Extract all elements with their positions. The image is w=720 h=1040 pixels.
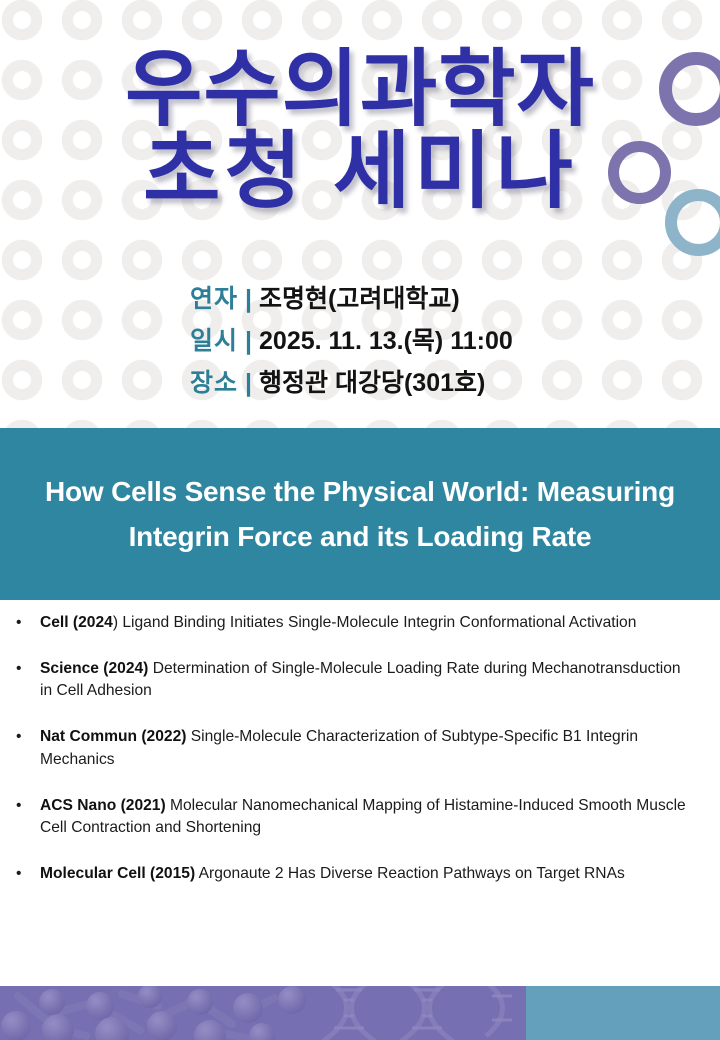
seminar-poster: 우수의과학자 초청 세미나 연자|조명현(고려대학교) 일시|2025. 11.… bbox=[0, 0, 720, 1040]
footer-teal-block bbox=[526, 986, 720, 1040]
lecture-title-banner: How Cells Sense the Physical World: Meas… bbox=[0, 428, 720, 600]
bullet-icon: • bbox=[16, 612, 21, 634]
publication-journal: Molecular Cell (2015) bbox=[40, 865, 195, 882]
list-item: •Science (2024) Determination of Single-… bbox=[14, 658, 686, 702]
info-label-datetime: 일시 bbox=[190, 327, 238, 355]
publication-title: Argonaute 2 Has Diverse Reaction Pathway… bbox=[195, 865, 625, 882]
info-separator-datetime: | bbox=[238, 327, 259, 355]
info-value-location: 행정관 대강당(301호) bbox=[259, 369, 485, 397]
poster-title-line-2: 초청 세미나 bbox=[0, 130, 720, 212]
lecture-title-text: How Cells Sense the Physical World: Meas… bbox=[20, 469, 700, 560]
info-row-datetime: 일시|2025. 11. 13.(목) 11:00 bbox=[190, 320, 530, 362]
list-item: •Molecular Cell (2015) Argonaute 2 Has D… bbox=[14, 863, 686, 885]
list-item: •Nat Commun (2022) Single-Molecule Chara… bbox=[14, 726, 686, 770]
bullet-icon: • bbox=[16, 726, 21, 748]
info-value-datetime: 2025. 11. 13.(목) 11:00 bbox=[259, 327, 513, 355]
footer-purple-tint bbox=[0, 986, 526, 1040]
info-value-speaker: 조명현(고려대학교) bbox=[259, 285, 460, 313]
poster-main-title: 우수의과학자 초청 세미나 bbox=[0, 48, 720, 213]
publication-title: ) Ligand Binding Initiates Single-Molecu… bbox=[113, 614, 637, 631]
info-row-location: 장소|행정관 대강당(301호) bbox=[190, 362, 530, 404]
footer-strip bbox=[0, 986, 720, 1040]
publication-journal: Cell (2024 bbox=[40, 614, 113, 631]
publication-journal: ACS Nano (2021) bbox=[40, 797, 166, 814]
publication-journal: Nat Commun (2022) bbox=[40, 728, 186, 745]
bullet-icon: • bbox=[16, 795, 21, 817]
seminar-info-block: 연자|조명현(고려대학교) 일시|2025. 11. 13.(목) 11:00 … bbox=[0, 278, 720, 404]
bullet-icon: • bbox=[16, 658, 21, 680]
hero-section: 우수의과학자 초청 세미나 연자|조명현(고려대학교) 일시|2025. 11.… bbox=[0, 0, 720, 428]
poster-title-line-1: 우수의과학자 bbox=[125, 42, 595, 136]
info-row-speaker: 연자|조명현(고려대학교) bbox=[190, 278, 530, 320]
molecular-dna-image bbox=[0, 986, 526, 1040]
list-item: •ACS Nano (2021) Molecular Nanomechanica… bbox=[14, 795, 686, 839]
info-separator-speaker: | bbox=[238, 285, 259, 313]
bullet-icon: • bbox=[16, 863, 21, 885]
info-label-speaker: 연자 bbox=[190, 285, 238, 313]
list-item: •Cell (2024) Ligand Binding Initiates Si… bbox=[14, 612, 686, 634]
publications-list: •Cell (2024) Ligand Binding Initiates Si… bbox=[0, 612, 720, 980]
info-label-location: 장소 bbox=[190, 369, 238, 397]
info-separator-location: | bbox=[238, 369, 259, 397]
publication-journal: Science (2024) bbox=[40, 660, 148, 677]
